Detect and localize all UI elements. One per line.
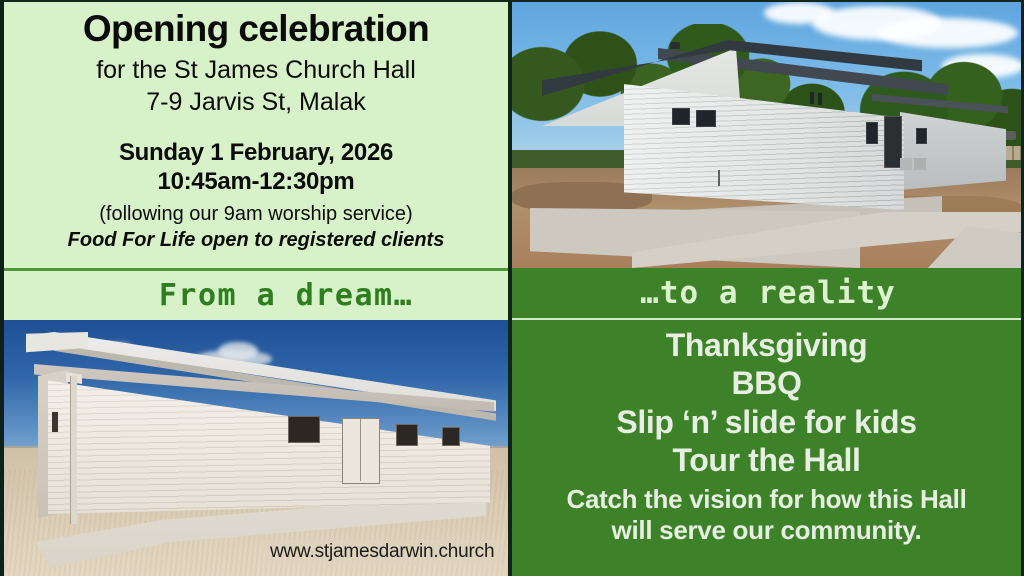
- render-window: [442, 427, 460, 446]
- air-conditioner-unit: [914, 158, 926, 170]
- subtitle-venue: for the St James Church Hall: [18, 55, 494, 85]
- activity-item: Thanksgiving: [512, 326, 1021, 364]
- band-to-a-reality: …to a reality: [512, 268, 1024, 320]
- page-title: Opening celebration: [18, 8, 494, 49]
- render-door-seam: [360, 419, 361, 481]
- frame-border-top: [0, 0, 1024, 2]
- band-from-a-dream: From a dream…: [0, 268, 508, 320]
- subtitle-address: 7-9 Jarvis St, Malak: [18, 87, 494, 117]
- air-conditioner-unit: [900, 158, 912, 170]
- render-door: [342, 418, 380, 484]
- tap-pipe: [718, 170, 720, 186]
- completed-hall-photo: [512, 0, 1024, 268]
- architectural-render-image: [0, 320, 508, 576]
- event-time: 10:45am-12:30pm: [18, 168, 494, 196]
- frame-border-left: [0, 0, 4, 576]
- closing-line-1: Catch the vision for how this Hall: [512, 484, 1021, 516]
- closing-line-2: will serve our community.: [512, 515, 1021, 547]
- hall-window: [916, 128, 927, 144]
- event-date: Sunday 1 February, 2026: [18, 139, 494, 167]
- website-url[interactable]: www.stjamesdarwin.church: [262, 540, 502, 566]
- frame-divider-vertical: [508, 0, 512, 576]
- activity-item: Slip ‘n’ slide for kids: [512, 403, 1021, 441]
- hall-window: [696, 110, 716, 127]
- food-for-life-note: Food For Life open to registered clients: [18, 228, 494, 252]
- activities-panel: Thanksgiving BBQ Slip ‘n’ slide for kids…: [512, 320, 1024, 576]
- event-info-panel: Opening celebration for the St James Chu…: [0, 0, 508, 268]
- activity-item: Tour the Hall: [512, 441, 1021, 479]
- hall-window: [866, 122, 878, 144]
- render-downpipe: [70, 376, 77, 524]
- render-window: [288, 416, 320, 443]
- render-window: [52, 412, 58, 432]
- exterior-light-icon: [670, 42, 680, 49]
- render-window: [396, 424, 418, 446]
- activity-item: BBQ: [512, 364, 1021, 402]
- wall-vent: [818, 93, 822, 105]
- cloud-shape: [764, 2, 834, 24]
- cloud-shape: [218, 342, 258, 360]
- poster-canvas: Opening celebration for the St James Chu…: [0, 0, 1024, 576]
- wall-vent: [810, 92, 814, 104]
- service-note: (following our 9am worship service): [18, 202, 494, 226]
- band-label-dream: From a dream…: [99, 278, 413, 313]
- band-label-reality: …to a reality: [640, 275, 896, 311]
- hall-window: [672, 108, 690, 125]
